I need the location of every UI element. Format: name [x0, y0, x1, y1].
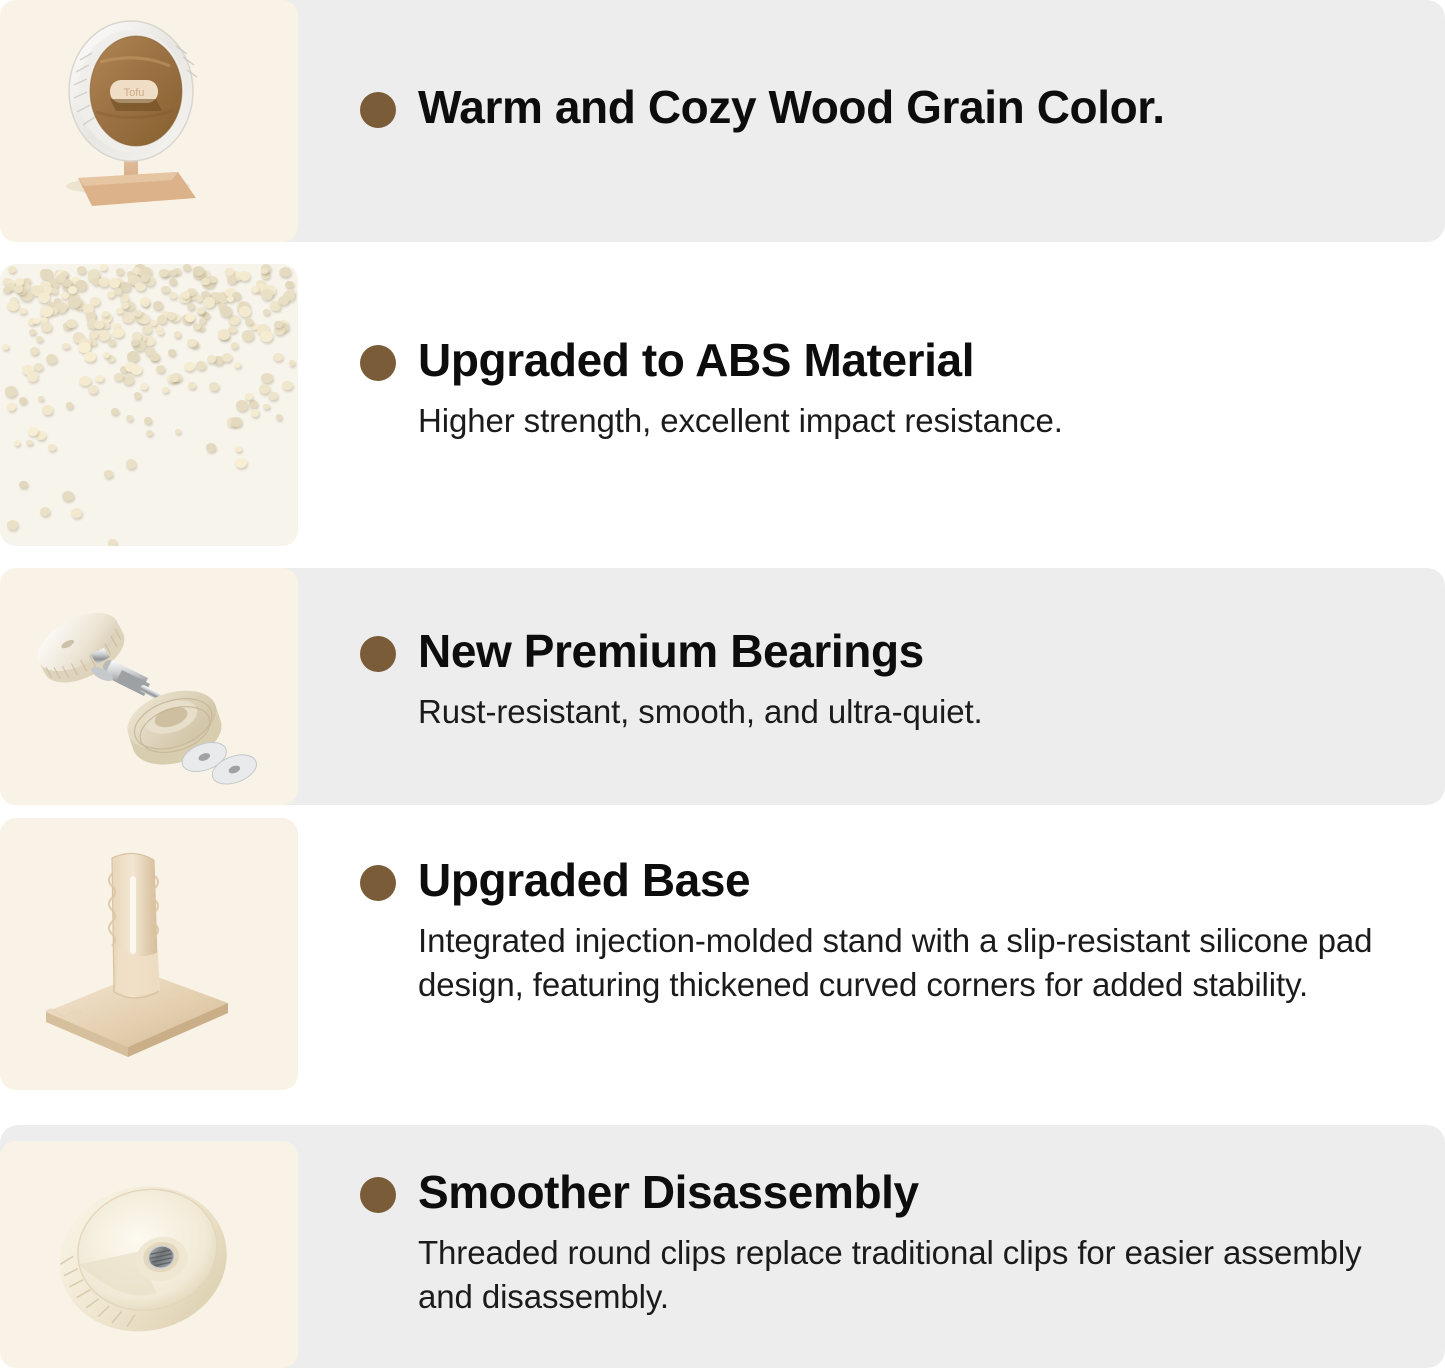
- bullet-dot-icon: [360, 92, 396, 128]
- feature-row: New Premium Bearings Rust-resistant, smo…: [0, 568, 1445, 805]
- feature-title: Upgraded to ABS Material: [418, 335, 974, 387]
- product-feature-list: Tofu Warm and Cozy Wood Grain Color.: [0, 0, 1445, 1368]
- feature-description: Higher strength, excellent impact resist…: [418, 399, 1425, 444]
- threaded-round-clip-hub-icon: [0, 1141, 298, 1368]
- feature-image-premium-bearings: [0, 568, 298, 805]
- abs-plastic-pellets-icon: [0, 264, 298, 546]
- feature-image-abs-material: [0, 264, 298, 546]
- injection-molded-stand-icon: [0, 818, 298, 1090]
- feature-heading-line: Upgraded to ABS Material: [360, 335, 1425, 387]
- bullet-dot-icon: [360, 865, 396, 901]
- feature-heading-line: Warm and Cozy Wood Grain Color.: [360, 82, 1425, 134]
- feature-title: Smoother Disassembly: [418, 1167, 919, 1219]
- feature-heading-line: Smoother Disassembly: [360, 1167, 1425, 1219]
- feature-row: Smoother Disassembly Threaded round clip…: [0, 1125, 1445, 1368]
- feature-text-block: Upgraded to ABS Material Higher strength…: [360, 335, 1425, 443]
- feature-description: Integrated injection-molded stand with a…: [418, 919, 1425, 1009]
- feature-text-block: Warm and Cozy Wood Grain Color.: [360, 82, 1425, 134]
- hamster-wheel-wood-grain-on-stand-icon: Tofu: [0, 0, 298, 242]
- exploded-bearing-assembly-icon: [0, 568, 298, 805]
- feature-row: Upgraded to ABS Material Higher strength…: [0, 242, 1445, 568]
- feature-title: Upgraded Base: [418, 855, 750, 907]
- bullet-dot-icon: [360, 345, 396, 381]
- feature-description: Rust-resistant, smooth, and ultra-quiet.: [418, 690, 1425, 735]
- feature-heading-line: Upgraded Base: [360, 855, 1425, 907]
- feature-heading-line: New Premium Bearings: [360, 626, 1425, 678]
- feature-text-block: New Premium Bearings Rust-resistant, smo…: [360, 626, 1425, 734]
- feature-row: Tofu Warm and Cozy Wood Grain Color.: [0, 0, 1445, 242]
- feature-image-upgraded-base: [0, 818, 298, 1090]
- feature-text-block: Smoother Disassembly Threaded round clip…: [360, 1167, 1425, 1320]
- feature-image-wood-grain-color: Tofu: [0, 0, 298, 242]
- bullet-dot-icon: [360, 1177, 396, 1213]
- bullet-dot-icon: [360, 636, 396, 672]
- feature-title: New Premium Bearings: [418, 626, 924, 678]
- feature-image-smoother-disassembly: [0, 1141, 298, 1368]
- svg-text:Tofu: Tofu: [124, 87, 145, 99]
- feature-row: Upgraded Base Integrated injection-molde…: [0, 805, 1445, 1125]
- feature-text-block: Upgraded Base Integrated injection-molde…: [360, 855, 1425, 1008]
- feature-description: Threaded round clips replace traditional…: [418, 1231, 1425, 1321]
- feature-title: Warm and Cozy Wood Grain Color.: [418, 82, 1165, 134]
